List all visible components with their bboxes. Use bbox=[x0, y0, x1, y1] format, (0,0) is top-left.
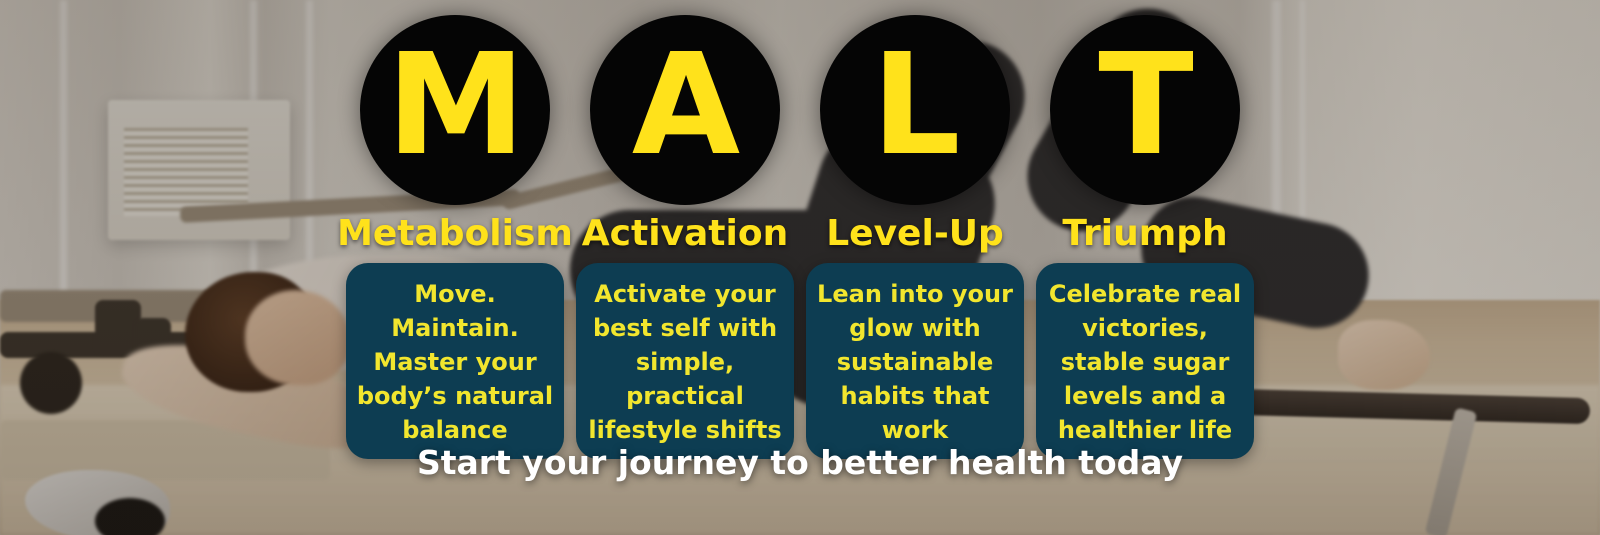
description-card-triumph: Celebrate real victories, stable sugar l… bbox=[1036, 263, 1254, 459]
tagline: Start your journey to better health toda… bbox=[0, 443, 1600, 482]
description-text: Activate your best self with simple, pra… bbox=[586, 277, 784, 447]
pillar-triumph: T Triumph bbox=[1050, 15, 1240, 254]
pillar-label-metabolism: Metabolism bbox=[337, 213, 573, 254]
letter-circle-a: A bbox=[590, 15, 780, 205]
letter-circle-l: L bbox=[820, 15, 1010, 205]
description-card-level-up: Lean into your glow with sustainable hab… bbox=[806, 263, 1024, 459]
description-text: Lean into your glow with sustainable hab… bbox=[816, 277, 1014, 447]
pillar-circles-row: M Metabolism A Activation L Level-Up T bbox=[0, 15, 1600, 254]
poster-content: M Metabolism A Activation L Level-Up T bbox=[0, 0, 1600, 535]
letter-circle-m: M bbox=[360, 15, 550, 205]
description-text: Move. Maintain. Master your body’s natur… bbox=[356, 277, 554, 447]
pillar-label-activation: Activation bbox=[582, 213, 788, 254]
letter-glyph: M bbox=[386, 36, 523, 176]
letter-glyph: A bbox=[632, 36, 738, 176]
description-card-metabolism: Move. Maintain. Master your body’s natur… bbox=[346, 263, 564, 459]
pillar-label-level-up: Level-Up bbox=[826, 213, 1004, 254]
pillar-activation: A Activation bbox=[590, 15, 780, 254]
description-card-activation: Activate your best self with simple, pra… bbox=[576, 263, 794, 459]
letter-glyph: T bbox=[1098, 36, 1192, 176]
pillar-metabolism: M Metabolism bbox=[360, 15, 550, 254]
letter-glyph: L bbox=[871, 36, 958, 176]
poster-banner: M Metabolism A Activation L Level-Up T bbox=[0, 0, 1600, 535]
pillar-label-triumph: Triumph bbox=[1062, 213, 1227, 254]
description-text: Celebrate real victories, stable sugar l… bbox=[1046, 277, 1244, 447]
pillar-level-up: L Level-Up bbox=[820, 15, 1010, 254]
pillar-description-cards-row: Move. Maintain. Master your body’s natur… bbox=[0, 263, 1600, 459]
letter-circle-t: T bbox=[1050, 15, 1240, 205]
